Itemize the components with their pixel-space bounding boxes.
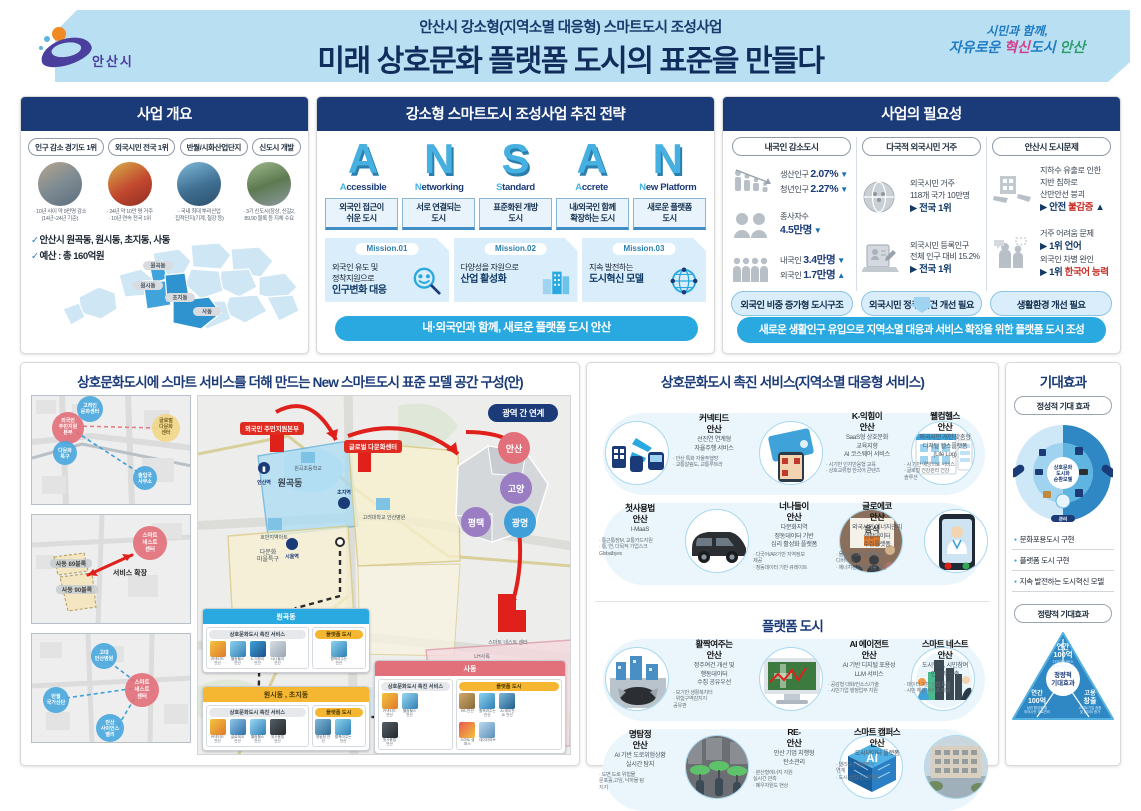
necessity-column-head: 다국적 외국시민 거주	[862, 137, 981, 156]
service-text-ai-agent: AI 에이전트안산 AI 기반 디지털 포용성 LLM 서비스 · 공감형 대화…	[828, 639, 910, 695]
open-ansan-icon: 활짝여주는 안산	[479, 693, 496, 718]
svg-text:다문화: 다문화	[260, 548, 277, 556]
overview-chip-row: 인구 감소 경기도 1위 외국시민 전국 1위 반월/시화산업단지 신도시 개발	[21, 131, 308, 156]
svg-text:원곡동: 원곡동	[278, 477, 303, 488]
service-text-wellcomhealth: 웰컴헬스안산 외국시민 개인 맞춤형 디지털 헬스플랫폼 (Life Log) …	[904, 411, 986, 482]
legend-group-title: 상호문화도시 촉진 서비스	[209, 708, 306, 717]
legend-card-wonsi-choji: 원시동 , 초지동 상호문화도시 촉진 서비스 커넥티드 안산 글로에코 안산 …	[202, 686, 370, 751]
mission-card-2: Mission.02 다양성을 자원으로 산업 활성화	[454, 238, 578, 302]
crowd-icon	[732, 251, 774, 285]
service-title: 너나들이안산	[753, 501, 835, 522]
necessity-item: 종사자수 4.5만명 ▼	[732, 208, 851, 242]
services-group-promotion: 커넥티드안산 선진연 연계형 자율주행 서비스 · 안산 특화 자율주행망 · …	[593, 391, 994, 589]
mission-line-1: 외국인 유도 및	[332, 263, 378, 272]
service-bullets: · 안산 특화 자율주행망 · 교통알림도, 교통루트라	[673, 456, 755, 470]
svg-text:반월: 반월	[51, 693, 61, 700]
acronym-word: Accessible	[327, 182, 399, 193]
legend-group: 플랫폼 도시 명탐정 안산 활짝여주는 안산	[312, 705, 366, 747]
necessity-item-text: 외국시민 등록인구 전체 인구 대비 15.2% ▶ 전국 1위	[910, 240, 980, 278]
necessity-item-text: 생산인구 2.07% ▼ 청년인구 2.27% ▼	[780, 167, 848, 197]
down-arrow-icon	[909, 297, 935, 313]
ai-agent-icon: AI 에이전트 안산	[499, 693, 516, 718]
svg-text:순환모델: 순환모델	[1054, 476, 1073, 483]
service-bullets: · 통근통장M, 교통카드지원 · 통, 연, 다목적 기업스크 Globalb…	[599, 538, 681, 558]
ansan-spatial-plan-map: ▮ 안산역 초지역 시울역 원곡초등학교 고려대학교 안산병원 호반지역아트	[197, 395, 571, 755]
svg-text:사이언스: 사이언스	[101, 725, 120, 732]
necessity-line: 지반 침하로	[1040, 178, 1078, 187]
strategy-box-row: 외국인 접근이 쉬운 도시 서로 연결되는 도시 표준화된 개방 도시 내/외국…	[317, 193, 714, 230]
svg-text:연간: 연간	[1031, 689, 1043, 697]
mini-map-column: 고려인 문화센터 외국인 주민지원 본부 글로벌 다문화 센터 다문화 특구 출…	[31, 395, 191, 752]
svg-text:원곡동: 원곡동	[151, 262, 166, 270]
acronym-word: Networking	[403, 182, 475, 193]
necessity-rank: ▶ 전국 1위	[910, 264, 951, 275]
wellcomhealth-icon: 웰컴헬스 안산	[229, 641, 246, 666]
mission-line-2: 정착지원으로	[332, 274, 374, 283]
overview-chip: 신도시 개발	[252, 138, 301, 156]
legend-card-wongok: 원곡동 상호문화도시 촉진 서비스 커넥티드 안산 웰컴헬스 안산 K-익힘이 …	[202, 608, 370, 673]
service-text-global-eco: 글로에코안산 외국시민 에너지관리 생활데이터 수집플랫폼 · 물환경 스마트 …	[836, 501, 918, 572]
legend-icon-caption: 명탐정 안산	[315, 736, 332, 744]
svg-text:고려대학교 안산병원: 고려대학교 안산병원	[363, 514, 406, 521]
legend-icon-caption: 활짝여주는 안산	[335, 736, 352, 744]
legend-icon-caption: 스마트 캠퍼스	[459, 739, 476, 747]
necessity-line: 외국인 차별 완인	[1040, 255, 1094, 264]
necessity-line: 생산인구 2.07% ▼	[780, 170, 848, 179]
strategy-panel: 강소형 스마트도시 조성사업 추진 전략 A Accessible N Netw…	[316, 96, 715, 354]
mission-card-3: Mission.03 지속 발전하는 도시혁신 모델	[582, 238, 706, 302]
buildings-icon	[541, 266, 571, 296]
necessity-line: 거주 어려움 문제	[1040, 229, 1094, 238]
acronym-networking: N Networking	[403, 139, 475, 193]
legend-icon-caption: 너나들이 안산	[269, 658, 286, 666]
service-bullets: · 보기반 생활복지터 · 위험구역감지지 공유판	[673, 690, 755, 710]
strategy-box: 표준화된 개방 도시	[479, 198, 552, 230]
medical-monitor-icon	[759, 647, 823, 711]
acronym-rest: ccrete	[582, 182, 608, 193]
necessity-item: 거주 어려움 문제 ▶ 1위 언어 외국인 차별 완인 ▶ 1위 한국어 능력	[992, 228, 1111, 279]
necessity-rank: ▶ 전국 1위	[910, 203, 951, 214]
wellcomhealth-icon: 웰컴헬스 안산	[249, 719, 266, 744]
acronym-rest: tandard	[502, 182, 535, 193]
necessity-footer-banner: 새로운 생활인구 유입으로 지역소멸 대응과 서비스 확장을 위한 플랫폼 도시…	[737, 317, 1106, 343]
mission-tag: Mission.01	[356, 243, 419, 255]
svg-text:문화센터: 문화센터	[81, 408, 100, 415]
letter-n-glyph: N	[403, 139, 475, 179]
ansan-acronym-row: A Accessible N Networking S Standard A A…	[317, 131, 714, 193]
campus-building-icon	[924, 735, 988, 799]
svg-text:서비스 확장: 서비스 확장	[113, 568, 148, 577]
spatial-panel: 상호문화도시에 스마트 서비스를 더해 만드는 New 스마트도시 표준 모델 …	[20, 362, 580, 766]
two-people-icon	[732, 208, 774, 242]
overview-photo-cell: · 3기 신도시(장상, 신길2, 89,90 블록 등 지체 수요	[238, 162, 300, 224]
overview-chip: 외국시민 전국 1위	[108, 138, 175, 156]
overview-title: 사업 개요	[21, 97, 308, 131]
acronym-accrete: A Accrete	[556, 139, 628, 193]
svg-text:초지역: 초지역	[337, 489, 351, 496]
acronym-word: Standard	[479, 182, 551, 193]
legend-icon-caption: AI 에이전트 안산	[499, 710, 516, 718]
necessity-column-head: 내국인 감소도시	[732, 137, 851, 156]
services-divider	[595, 601, 990, 602]
services-group-platform: 활짝여주는안산 정주여건 개선 및 행동데이터 수집 공유우선 · 보기반 생활…	[593, 635, 994, 763]
svg-text:100억: 100억	[1028, 696, 1046, 705]
effect-list-item: 지속 발전하는 도시혁신 모델	[1012, 571, 1114, 592]
svg-text:외국인: 외국인	[61, 417, 75, 424]
strategy-box: 내/외국인 함께 확장하는 도시	[556, 198, 629, 230]
effects-panel: 기대효과 정성적 기대 효과 상호문화 도시화 순환모델 관리 문화포용도시 구…	[1005, 362, 1121, 766]
svg-text:스마트 네스트 센터: 스마트 네스트 센터	[488, 639, 528, 646]
strategy-box: 새로운 플랫폼 도시	[633, 198, 706, 230]
svg-text:고용: 고용	[1084, 689, 1096, 697]
svg-text:스마트: 스마트	[143, 531, 158, 539]
necessity-panel: 사업의 필요성 내국인 감소도시 생산인구 2.07% ▼ 청년인구 2.27%…	[722, 96, 1121, 354]
legend-card-title: 원곡동	[203, 609, 369, 624]
mission-strong: 도시혁신 모델	[589, 274, 643, 285]
legend-group-title: 상호문화도시 촉진 서비스	[209, 630, 306, 639]
necessity-line: 외국시민 거주	[910, 179, 955, 188]
service-title: 스마트 네스트안산	[904, 639, 986, 660]
svg-text:▮: ▮	[262, 466, 266, 473]
legend-group: 상호문화도시 촉진 서비스 커넥티드 안산 웰컴헬스 안산 K-익힘이 안산 너…	[206, 627, 309, 669]
necessity-item-text: 거주 어려움 문제 ▶ 1위 언어 외국인 차별 완인 ▶ 1위 한국어 능력	[1040, 228, 1109, 279]
necessity-columns: 내국인 감소도시 생산인구 2.07% ▼ 청년인구 2.27% ▼	[723, 131, 1120, 291]
svg-text:안산: 안산	[506, 443, 523, 454]
effect-list-item: 문화포용도시 구현	[1012, 529, 1114, 550]
strategy-box: 외국인 접근이 쉬운 도시	[325, 198, 398, 230]
necessity-column-urban: 안산시 도시문제 지하수 유출로 인한 지반 침하로 산만안선 붕괴 ▶ 안전 …	[986, 137, 1116, 291]
legend-icon-row: 커넥티드 안산 글로에코 안산 웰컴헬스 안산 첫사용법 안산	[209, 719, 306, 744]
overview-photo-cell: - 국내 최대 뿌리산업 집적단지(기계, 철강 등)	[168, 162, 230, 224]
legend-card-body: 상호문화도시 촉진 서비스 커넥티드 안산 웰컴헬스 안산 K-익힘이 안산 너…	[203, 624, 369, 672]
service-desc: SaaS형 상호문화 교육지향 AI 코스웨어 서비스	[826, 434, 908, 458]
necessity-column-domestic: 내국인 감소도시 생산인구 2.07% ▼ 청년인구 2.27% ▼	[727, 137, 856, 291]
service-desc: 정주여건 개선 및 행동데이터 수집 공유우선	[673, 662, 755, 686]
services-title-main: 상호문화도시 촉진 서비스	[661, 375, 795, 390]
overview-photo-caption: - 국내 최대 뿌리산업 집적단지(기계, 철강 등)	[168, 209, 230, 224]
svg-text:다문화: 다문화	[58, 447, 72, 454]
industrial-complex-photo	[177, 162, 221, 206]
svg-text:외국시민 의료관리: 외국시민 의료관리	[1024, 709, 1050, 714]
open-ansan-icon: 활짝여주는 안산	[330, 641, 347, 666]
strategy-footer-banner: 내·외국인과 함께, 새로운 플랫폼 도시 안산	[335, 316, 698, 341]
service-bullets: · 시 기반 예방의료 서비스 · 글로벌 건강관리 건강 솔루션	[904, 462, 986, 482]
svg-text:및 일자리 증가: 및 일자리 증가	[1080, 709, 1101, 714]
regional-linkage-badge: 광역 간 연계	[488, 404, 558, 422]
page-header: 안산시 안산시 강소형(지역소멸 대응형) 스마트도시 조성사업 미래 상호문화…	[0, 0, 1141, 90]
wellcomhealth-icon: 웰컴헬스 안산	[401, 693, 418, 718]
check-icon: ✓	[31, 235, 38, 246]
connected-ansan-icon: 커넥티드 안산	[381, 693, 398, 718]
service-title: 커넥티드안산	[673, 413, 755, 434]
svg-text:센터: 센터	[137, 692, 147, 700]
mission-row: Mission.01 외국인 유도 및 정착지원으로 인구변화 대응 Missi…	[317, 230, 714, 302]
necessity-pill: 외국인 비중 증가형 도시구조	[731, 291, 853, 316]
service-title: K-익힘이안산	[826, 411, 908, 432]
service-desc: 도시혁신, 시민참여 인프라 구축	[904, 662, 986, 678]
svg-text:창출: 창출	[1084, 696, 1097, 705]
service-title: 첫사용법안산	[599, 503, 681, 524]
mission-text: 외국인 유도 및 정착지원으로 인구변화 대응	[332, 262, 408, 298]
service-desc: 도시데이터 플랫폼	[836, 750, 918, 758]
legend-icon-caption: 커넥티드 안산	[209, 658, 226, 666]
legend-icon-caption: 첫사용법 안산	[381, 739, 398, 747]
acronym-rest: etworking	[421, 182, 463, 193]
building-sinkhole-icon	[992, 173, 1034, 207]
industry-linkage-map: 고대 안산병원 스마트 네스트 센터 반월 국가산단 안산 사이언스 밸리	[31, 633, 191, 743]
svg-text:특구: 특구	[60, 453, 70, 460]
svg-text:국가산단: 국가산단	[47, 699, 66, 706]
overview-chip: 인구 감소 경기도 1위	[28, 138, 104, 156]
qualitative-effects-head: 정성적 기대 효과	[1014, 396, 1112, 415]
global-eco-icon: 글로에코 안산	[229, 719, 246, 744]
overview-chip: 반월/시화산업단지	[180, 138, 248, 156]
svg-text:안산: 안산	[105, 719, 115, 726]
smart-nest-icon: 데이터허브	[479, 722, 496, 747]
acronym-standard: S Standard	[479, 139, 551, 193]
legend-icon-caption: 웰컴헬스 안산	[229, 658, 246, 666]
svg-text:사동 89블록: 사동 89블록	[56, 560, 87, 568]
service-bullets: · 시기반 인지반응형 교육 · 상호교류형 한국어 콘텐츠	[826, 462, 908, 476]
necessity-line: 지하수 유출로 인한	[1040, 166, 1101, 175]
necessity-value: 4.5만명	[780, 224, 812, 236]
legend-card-body: 상호문화도시 촉진 서비스 커넥티드 안산 글로에코 안산 웰컴헬스 안산 첫사…	[203, 702, 369, 750]
necessity-line: 청년인구 2.27% ▼	[780, 185, 848, 194]
van-icon	[685, 509, 749, 573]
overview-photo-caption: · 10년 사이 약 9만명 감소 (14년~24년 기준)	[29, 209, 91, 224]
legend-group-title: 플랫폼 도시	[315, 708, 363, 717]
legend-icon-caption: 웰컴헬스 안산	[401, 710, 418, 718]
acronym-new-platform: N New Platform	[632, 139, 704, 193]
necessity-rank: ▶ 1위 언어	[1040, 241, 1081, 252]
necessity-item: 생산인구 2.07% ▼ 청년인구 2.27% ▼	[732, 165, 851, 199]
legend-icon-row: 커넥티드 안산 웰컴헬스 안산 K-익힘이 안산 너나들이 안산	[209, 641, 306, 666]
service-title: 스마트 캠퍼스안산	[836, 727, 918, 748]
svg-text:마을특구: 마을특구	[257, 555, 280, 563]
svg-text:고대: 고대	[99, 649, 109, 656]
necessity-line: 외국인 1.7만명 ▲	[780, 271, 845, 280]
service-title: 명탐정안산	[599, 729, 681, 750]
necessity-item-text: 종사자수 4.5만명 ▼	[780, 211, 822, 238]
necessity-item-text: 내국인 3.4만명 ▼ 외국인 1.7만명 ▲	[780, 253, 845, 283]
service-desc: AI 기반 도로위험상황 실시간 탐지	[599, 752, 681, 768]
spatial-title: 상호문화도시에 스마트 서비스를 더해 만드는 New 스마트도시 표준 모델 …	[21, 363, 579, 396]
document-register-icon	[862, 241, 904, 275]
legend-icon-caption: 활짝여주는 안산	[479, 710, 496, 718]
service-text-open-ansan: 활짝여주는안산 정주여건 개선 및 행동데이터 수집 공유우선 · 보기반 생활…	[673, 639, 755, 710]
overview-panel: 사업 개요 인구 감소 경기도 1위 외국시민 전국 1위 반월/시화산업단지 …	[20, 96, 309, 354]
service-bullets: · 데이터 기반 산업 육성 · 시민 체감 서비스 제공	[904, 682, 986, 696]
overview-photo-cell: · 24년 약 10만 명 거주 · 10년 연속 전국 1위	[99, 162, 161, 224]
red-tag-support-hq: 외국인 주민지원본부	[240, 422, 304, 435]
first-ride-icon: 첫사용법 안산	[269, 719, 286, 744]
effect-list-item: 플랫폼 도시 구현	[1012, 550, 1114, 571]
service-desc: 선진연 연계형 자율주행 서비스	[673, 436, 755, 452]
service-text-smart-nest: 스마트 네스트안산 도시혁신, 시민참여 인프라 구축 · 데이터 기반 산업 …	[904, 639, 986, 695]
svg-text:광명: 광명	[512, 517, 529, 528]
legend-card-title: 원시동 , 초지동	[203, 687, 369, 702]
legend-card-body: 상호문화도시 촉진 서비스 커넥티드 안산 웰컴헬스 안산 첫사용법 안산 플랫…	[375, 676, 565, 753]
svg-text:평택: 평택	[468, 517, 485, 528]
service-text-k-ikhimi: K-익힘이안산 SaaS형 상호문화 교육지향 AI 코스웨어 서비스 · 시기…	[826, 411, 908, 475]
mobile-qr-icon	[759, 421, 823, 485]
qualitative-effect-list: 문화포용도시 구현 플랫폼 도시 구현 지속 발전하는 도시혁신 모델	[1006, 523, 1120, 592]
svg-text:원시동: 원시동	[141, 282, 156, 290]
legend-icon-row: 커넥티드 안산 웰컴헬스 안산	[381, 693, 450, 718]
legend-icon-caption: 데이터허브	[479, 739, 496, 743]
legend-group: 상호문화도시 촉진 서비스 커넥티드 안산 웰컴헬스 안산 첫사용법 안산	[378, 679, 453, 750]
service-text-detective: 명탐정안산 AI 기반 도로위험상황 실시간 탐지 · 도면 도로 위험물 문포…	[599, 729, 681, 792]
mission-text: 지속 발전하는 도시혁신 모델	[589, 262, 665, 287]
svg-text:안산병원: 안산병원	[95, 655, 114, 662]
overview-photo-caption: · 24년 약 10만 명 거주 · 10년 연속 전국 1위	[99, 209, 161, 224]
necessity-item-text: 외국시민 거주 118개 국가 10만명 ▶ 전국 1위	[910, 178, 970, 216]
service-bullets: · 공감형 대화/컨소스/기술 · 시민기업 행정업무 지원	[828, 682, 910, 696]
population-decline-icon	[732, 165, 774, 199]
newtown-aerial-photo	[247, 162, 291, 206]
legend-group-title: 플랫폼 도시	[459, 682, 559, 691]
slogan-free: 자유로운	[949, 39, 1004, 55]
services-title-sub: (지역소멸 대응형 서비스)	[795, 375, 925, 390]
acronym-rest: ew Platform	[646, 182, 697, 193]
neonadeuri-icon: 너나들이 안산	[269, 641, 286, 666]
service-desc: AI 기반 디지털 포용성 LLM 서비스	[828, 662, 910, 678]
svg-text:다국어 서비스: 다국어 서비스	[1053, 659, 1075, 664]
open-ansan-icon: 활짝여주는 안산	[335, 719, 352, 744]
necessity-line: 종사자수	[780, 212, 809, 221]
service-text-smart-campus: 스마트 캠퍼스안산 도시데이터 플랫폼 · 열리공산업대부서 연계 · 도시-산…	[836, 727, 918, 782]
necessity-rank: ▶ 1위 한국어 능력	[1040, 267, 1109, 278]
mission-line-1: 다양성을 자원으로	[461, 263, 519, 272]
multicultural-street-photo	[108, 162, 152, 206]
detective-icon: 명탐정 안산	[315, 719, 332, 744]
k-ikhimi-icon: K-익힘이 안산	[249, 641, 266, 666]
letter-s-glyph: S	[479, 139, 551, 179]
svg-text:다문화: 다문화	[159, 423, 173, 430]
svg-text:네스트: 네스트	[135, 685, 150, 693]
svg-text:밸리: 밸리	[105, 731, 115, 738]
necessity-line: 내국인 3.4만명 ▼	[780, 256, 845, 265]
legend-icon-caption: 글로에코 안산	[229, 736, 246, 744]
mission-strong: 산업 활성화	[461, 274, 507, 285]
svg-text:100억: 100억	[1053, 650, 1072, 659]
circular-model-diagram: 상호문화 도시화 순환모델 관리	[1013, 423, 1113, 523]
service-title: 글로에코안산	[836, 501, 918, 522]
acronym-rest: ccessible	[346, 182, 386, 193]
svg-text:글로벌: 글로벌	[159, 417, 173, 424]
svg-text:네스트: 네스트	[143, 538, 158, 546]
necessity-item: 외국시민 등록인구 전체 인구 대비 15.2% ▶ 전국 1위	[862, 240, 981, 278]
svg-text:주민지원: 주민지원	[59, 423, 78, 430]
necessity-column-head: 안산시 도시문제	[992, 137, 1111, 156]
necessity-item: 지하수 유출로 인한 지반 침하로 산만안선 붕괴 ▶ 안전 불감증 ▲	[992, 165, 1111, 214]
svg-text:사동: 사동	[202, 308, 212, 316]
svg-text:출입국: 출입국	[138, 472, 152, 479]
doctor-phone-icon	[924, 509, 988, 573]
legend-icon-caption: RE-안산	[459, 710, 476, 714]
mission-tag: Mission.03	[613, 243, 676, 255]
service-bullets: · 도면 도로 위험물 문포홀,고임, 낙하물 탐 지지	[599, 772, 681, 792]
check-icon: ✓	[31, 251, 38, 262]
letter-a2-glyph: A	[556, 139, 628, 179]
mission-strong: 인구변화 대응	[332, 285, 386, 296]
service-text-re-ansan: RE-안산 안산 기업 지행형 탄소관리 · 분산형에너지 지원 실시간 관측 …	[753, 727, 835, 790]
legend-card-title: 사동	[375, 661, 565, 676]
globe-network-icon	[669, 266, 699, 296]
svg-text:LH사옥: LH사옥	[474, 653, 490, 660]
legend-icon-row: 활짝여주는 안산	[315, 641, 363, 666]
necessity-line: 외국시민 등록인구	[910, 241, 969, 250]
legend-icon-row: 첫사용법 안산	[381, 722, 450, 747]
necessity-column-foreign: 다국적 외국시민 거주 외국시민 거주 118개 국가 10만명 ▶ 전국 1위	[856, 137, 986, 291]
service-bullets: · 다국어/AR기반 지역정보 제공 · 정동데이터 기반 큐레이트	[753, 552, 835, 572]
svg-text:및 한국어 교육: 및 한국어 교육	[1052, 664, 1075, 669]
legend-group: 상호문화도시 촉진 서비스 커넥티드 안산 글로에코 안산 웰컴헬스 안산 첫사…	[206, 705, 309, 747]
necessity-title: 사업의 필요성	[723, 97, 1120, 131]
service-title: 웰컴헬스안산	[904, 411, 986, 432]
overview-photo-caption: · 3기 신도시(장상, 신길2, 89,90 블록 등 지체 수요	[238, 209, 300, 224]
transit-icons	[605, 421, 669, 485]
svg-text:사동 90블록: 사동 90블록	[62, 586, 93, 594]
mission-tag: Mission.02	[484, 243, 547, 255]
connected-ansan-icon: 커넥티드 안산	[209, 641, 226, 666]
sinkhole-icon	[605, 647, 669, 711]
slogan-line-1: 시민과 함께,	[927, 24, 1107, 39]
svg-text:안산역: 안산역	[257, 479, 271, 486]
slogan-innovation: 혁신	[1004, 39, 1030, 55]
svg-text:기대효과: 기대효과	[1051, 678, 1075, 687]
svg-text:고려인: 고려인	[83, 402, 97, 409]
service-text-first-ride: 첫사용법안산 I-MaaS · 통근통장M, 교통카드지원 · 통, 연, 다목…	[599, 503, 681, 558]
mission-line-1: 지속 발전하는	[589, 263, 633, 272]
service-text-connected: 커넥티드안산 선진연 연계형 자율주행 서비스 · 안산 특화 자율주행망 · …	[673, 413, 755, 469]
strategy-box: 서로 연결되는 도시	[402, 198, 475, 230]
legend-group-title: 상호문화도시 촉진 서비스	[381, 682, 450, 691]
multicultural-hub-map: 고려인 문화센터 외국인 주민지원 본부 글로벌 다문화 센터 다문화 특구 출…	[31, 395, 191, 505]
street-photo	[38, 162, 82, 206]
necessity-line: 118개 국가 10만명	[910, 191, 970, 200]
letter-a-glyph: A	[327, 139, 399, 179]
svg-text:초지동: 초지동	[173, 294, 188, 302]
service-desc: I-MaaS	[599, 526, 681, 534]
necessity-pill: 생활환경 개선 필요	[990, 291, 1112, 316]
service-desc: 외국시민 개인 맞춤형 디지털 헬스플랫폼 (Life Log)	[904, 434, 986, 458]
quantitative-effects-head: 정량적 기대효과	[1014, 604, 1112, 623]
re-ansan-icon: RE-안산	[459, 693, 476, 718]
service-title: 활짝여주는안산	[673, 639, 755, 660]
legend-icon-row: RE-안산 활짝여주는 안산 AI 에이전트 안산	[459, 693, 559, 718]
first-ride-icon: 첫사용법 안산	[381, 722, 398, 747]
service-bullets: · 물환경 스마트 에너지 디바이스 · 에너지관리 및 사용 절감	[836, 552, 918, 572]
legend-icon-caption: 커넥티드 안산	[209, 736, 226, 744]
svg-text:정량적: 정량적	[1054, 670, 1072, 679]
svg-text:관리: 관리	[1059, 516, 1067, 523]
svg-text:고양: 고양	[508, 483, 525, 494]
svg-text:상호문화: 상호문화	[1054, 464, 1073, 471]
slogan-city: 도시	[1030, 39, 1060, 55]
people-language-icon	[992, 237, 1034, 271]
legend-icon-caption: 커넥티드 안산	[381, 710, 398, 718]
legend-card-sadong: 사동 상호문화도시 촉진 서비스 커넥티드 안산 웰컴헬스 안산 첫사용법 안산…	[374, 660, 566, 754]
slogan-line-2: 자유로운 혁신도시 안산	[927, 39, 1107, 57]
svg-text:시울역: 시울역	[285, 553, 299, 560]
slogan-ansan: 안산	[1060, 39, 1086, 55]
overview-photo-row: · 10년 사이 약 9만명 감소 (14년~24년 기준) · 24년 약 1…	[21, 156, 308, 224]
service-bullets: · 열리공산업대부서 연계 · 도시-산업-민간연결	[836, 762, 918, 782]
service-desc: 외국시민 에너지관리 생활데이터 수집플랫폼	[836, 524, 918, 548]
service-title: AI 에이전트안산	[828, 639, 910, 660]
necessity-item: 내국인 3.4만명 ▼ 외국인 1.7만명 ▲	[732, 251, 851, 285]
